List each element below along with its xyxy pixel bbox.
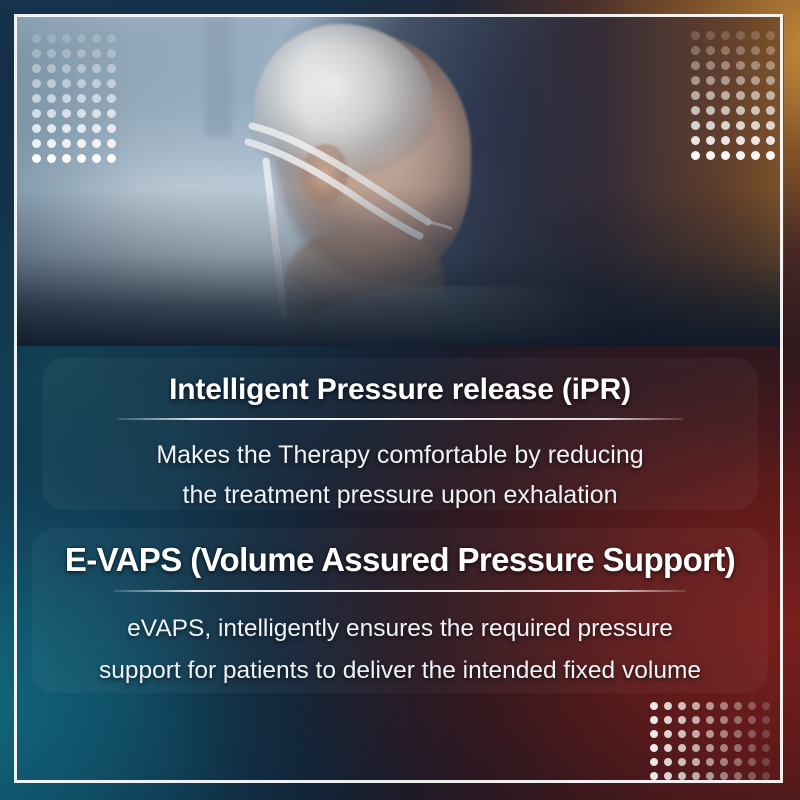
dot — [92, 154, 101, 163]
dot — [691, 121, 700, 130]
dot — [692, 730, 700, 738]
dot — [62, 64, 71, 73]
dot — [32, 94, 41, 103]
dot — [678, 758, 686, 766]
dot — [650, 758, 658, 766]
dot — [107, 34, 116, 43]
dot — [721, 136, 730, 145]
dot — [77, 109, 86, 118]
dot — [762, 702, 770, 710]
dot — [766, 121, 775, 130]
dot — [762, 744, 770, 752]
dot — [766, 76, 775, 85]
dot — [77, 139, 86, 148]
dot — [32, 79, 41, 88]
dot — [678, 716, 686, 724]
dot — [691, 136, 700, 145]
feature-body-line: the treatment pressure upon exhalation — [42, 475, 758, 515]
dot — [734, 772, 742, 780]
feature-divider-ipr — [117, 418, 683, 420]
dot — [734, 716, 742, 724]
dot — [766, 31, 775, 40]
dot — [751, 31, 760, 40]
dot — [47, 109, 56, 118]
dot — [107, 94, 116, 103]
dot — [766, 61, 775, 70]
dot — [748, 702, 756, 710]
dot — [706, 758, 714, 766]
photo-blend-overlay — [16, 16, 784, 346]
dot — [692, 758, 700, 766]
dot — [748, 716, 756, 724]
dot — [736, 61, 745, 70]
dot — [92, 34, 101, 43]
dot — [720, 730, 728, 738]
dot — [77, 49, 86, 58]
dot-grid-bottom-right — [650, 702, 776, 786]
dot — [77, 64, 86, 73]
dot — [691, 46, 700, 55]
dot — [751, 106, 760, 115]
dot — [766, 151, 775, 160]
dot — [721, 91, 730, 100]
dot — [62, 49, 71, 58]
dot — [751, 91, 760, 100]
dot — [751, 121, 760, 130]
dot — [47, 124, 56, 133]
feature-title-evaps: E-VAPS (Volume Assured Pressure Support) — [32, 528, 768, 579]
dot — [32, 139, 41, 148]
dot — [691, 61, 700, 70]
dot-grid-top-right — [691, 31, 781, 166]
dot — [736, 136, 745, 145]
dot — [721, 31, 730, 40]
dot — [736, 76, 745, 85]
dot — [706, 716, 714, 724]
dot — [32, 154, 41, 163]
dot — [692, 744, 700, 752]
feature-body-line: eVAPS, intelligently ensures the require… — [32, 608, 768, 650]
dot — [47, 154, 56, 163]
dot — [736, 31, 745, 40]
dot — [92, 94, 101, 103]
dot — [706, 106, 715, 115]
dot — [706, 46, 715, 55]
dot — [107, 79, 116, 88]
dot — [107, 64, 116, 73]
dot — [721, 151, 730, 160]
dot — [720, 772, 728, 780]
dot — [650, 730, 658, 738]
feature-body-evaps: eVAPS, intelligently ensures the require… — [32, 608, 768, 692]
dot — [664, 702, 672, 710]
dot — [664, 744, 672, 752]
dot — [664, 716, 672, 724]
dot — [736, 151, 745, 160]
dot — [47, 94, 56, 103]
dot — [692, 772, 700, 780]
dot — [678, 744, 686, 752]
dot — [706, 151, 715, 160]
dot — [691, 76, 700, 85]
dot — [721, 46, 730, 55]
dot — [762, 730, 770, 738]
dot — [748, 730, 756, 738]
dot — [706, 744, 714, 752]
dot — [77, 94, 86, 103]
dot — [92, 79, 101, 88]
dot — [62, 79, 71, 88]
dot — [720, 716, 728, 724]
dot — [62, 94, 71, 103]
feature-body-line: Makes the Therapy comfortable by reducin… — [42, 435, 758, 475]
dot — [650, 702, 658, 710]
dot — [706, 772, 714, 780]
dot — [92, 49, 101, 58]
dot — [650, 744, 658, 752]
dot — [762, 716, 770, 724]
dot — [62, 139, 71, 148]
dot — [47, 139, 56, 148]
dot — [664, 772, 672, 780]
dot — [721, 106, 730, 115]
dot — [92, 109, 101, 118]
dot — [706, 76, 715, 85]
dot — [706, 702, 714, 710]
dot — [47, 34, 56, 43]
dot — [691, 91, 700, 100]
dot — [751, 76, 760, 85]
dot — [734, 744, 742, 752]
dot — [107, 124, 116, 133]
dot — [706, 61, 715, 70]
dot — [748, 772, 756, 780]
dot — [691, 151, 700, 160]
dot — [766, 91, 775, 100]
dot — [766, 106, 775, 115]
dot — [691, 106, 700, 115]
dot — [47, 79, 56, 88]
dot — [706, 730, 714, 738]
feature-card-evaps: E-VAPS (Volume Assured Pressure Support)… — [32, 528, 768, 693]
dot — [748, 744, 756, 752]
feature-body-ipr: Makes the Therapy comfortable by reducin… — [42, 435, 758, 515]
dot — [678, 702, 686, 710]
dot — [721, 121, 730, 130]
dot-grid-top-left — [32, 34, 122, 169]
dot — [734, 730, 742, 738]
dot — [736, 121, 745, 130]
feature-body-line: support for patients to deliver the inte… — [32, 650, 768, 692]
dot — [664, 730, 672, 738]
patient-photo — [16, 16, 784, 346]
dot — [720, 702, 728, 710]
dot — [77, 34, 86, 43]
dot — [721, 76, 730, 85]
dot — [692, 716, 700, 724]
dot — [678, 772, 686, 780]
dot — [706, 31, 715, 40]
dot — [62, 109, 71, 118]
dot — [92, 139, 101, 148]
dot — [47, 49, 56, 58]
dot — [706, 121, 715, 130]
dot — [47, 64, 56, 73]
dot — [32, 49, 41, 58]
dot — [92, 124, 101, 133]
dot — [734, 758, 742, 766]
dot — [32, 109, 41, 118]
feature-title-ipr: Intelligent Pressure release (iPR) — [42, 358, 758, 407]
dot — [650, 716, 658, 724]
dot — [706, 91, 715, 100]
dot — [736, 106, 745, 115]
dot — [62, 34, 71, 43]
dot — [107, 154, 116, 163]
dot — [706, 136, 715, 145]
dot — [736, 46, 745, 55]
dot — [748, 758, 756, 766]
dot — [766, 136, 775, 145]
dot — [77, 79, 86, 88]
dot — [664, 758, 672, 766]
dot — [751, 46, 760, 55]
dot — [751, 61, 760, 70]
feature-divider-evaps — [114, 590, 686, 592]
dot — [32, 64, 41, 73]
dot — [692, 702, 700, 710]
dot — [32, 124, 41, 133]
dot — [734, 702, 742, 710]
dot — [62, 124, 71, 133]
promo-poster: Intelligent Pressure release (iPR) Makes… — [0, 0, 800, 800]
dot — [107, 49, 116, 58]
dot — [721, 61, 730, 70]
dot — [650, 772, 658, 780]
dot — [678, 730, 686, 738]
dot — [762, 772, 770, 780]
dot — [107, 109, 116, 118]
dot — [751, 151, 760, 160]
dot — [720, 758, 728, 766]
dot — [77, 124, 86, 133]
dot — [691, 31, 700, 40]
dot — [736, 91, 745, 100]
feature-card-ipr: Intelligent Pressure release (iPR) Makes… — [42, 358, 758, 510]
dot — [766, 46, 775, 55]
dot — [107, 139, 116, 148]
dot — [62, 154, 71, 163]
dot — [77, 154, 86, 163]
dot — [751, 136, 760, 145]
dot — [32, 34, 41, 43]
dot — [92, 64, 101, 73]
dot — [762, 758, 770, 766]
dot — [720, 744, 728, 752]
